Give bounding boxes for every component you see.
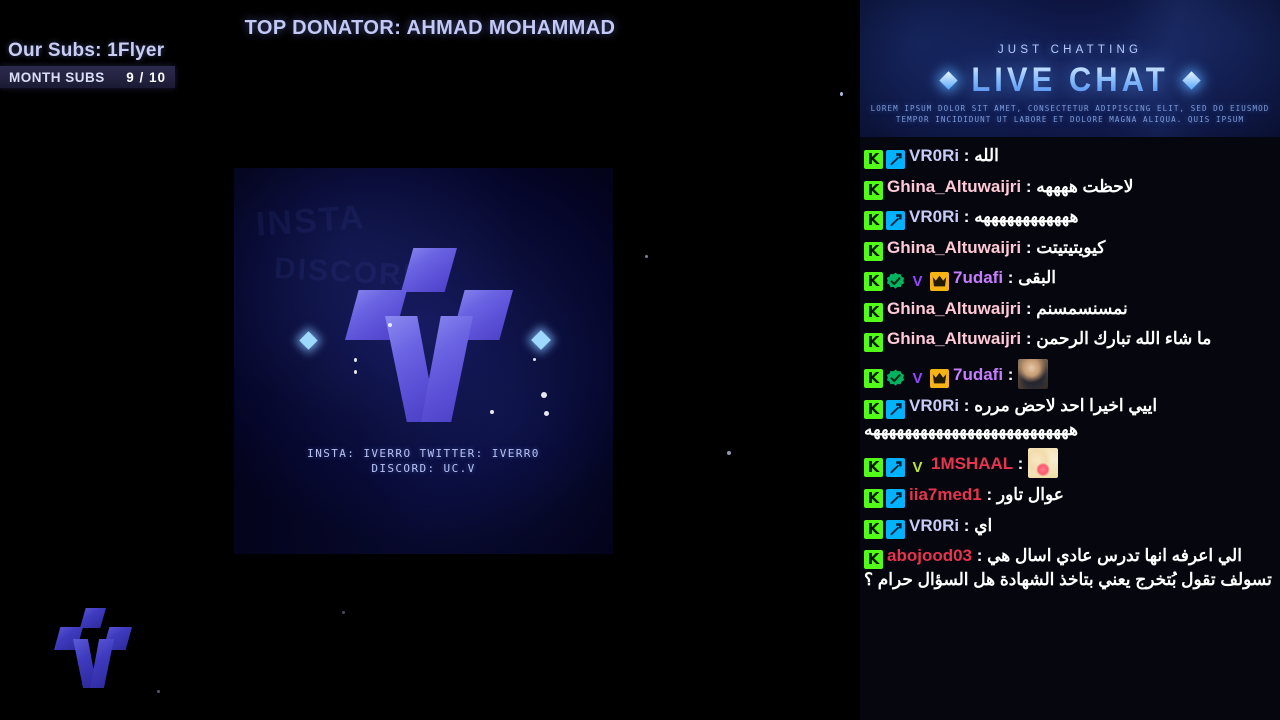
chat-badges: K xyxy=(864,333,883,352)
chat-message-text: ما شاء الله تبارك الرحمن xyxy=(1036,329,1211,348)
chat-colon-separator: : xyxy=(959,146,974,165)
particle-dot xyxy=(388,323,392,327)
chat-banner-title-row: LIVE CHAT xyxy=(860,62,1280,98)
crown-badge-icon[interactable] xyxy=(930,369,949,388)
chat-message-list[interactable]: KVR0Ri : اللهKGhina_Altuwaijri : لاحظت ه… xyxy=(860,137,1280,720)
chat-badges: K xyxy=(864,520,905,539)
chat-message[interactable]: KV7udafi : البقى xyxy=(864,267,1272,291)
chat-username[interactable]: 1MSHAAL xyxy=(931,454,1013,473)
moderator-badge-icon[interactable] xyxy=(886,211,905,230)
chat-message[interactable]: KVR0Ri : اي xyxy=(864,515,1272,539)
kick-badge-icon[interactable]: K xyxy=(864,333,883,352)
chat-badges: K xyxy=(864,242,883,261)
chat-message-text: البقى xyxy=(1018,268,1056,287)
chat-message[interactable]: KGhina_Altuwaijri : لاحظت ههههه xyxy=(864,176,1272,200)
chat-banner-subtitle-line-2: TEMPOR INCIDIDUNT UT LABORE ET DOLORE MA… xyxy=(860,114,1280,125)
chat-message-text: اييي اخيرا احد لاحض مرره ههههههههههههههه… xyxy=(864,396,1157,439)
chat-username[interactable]: Ghina_Altuwaijri xyxy=(887,329,1021,348)
kick-badge-icon[interactable]: K xyxy=(864,458,883,477)
album-social-line-1: INSTA: IVERRO TWITTER: IVERR0 xyxy=(234,446,613,461)
chat-banner: JUST CHATTING LIVE CHAT LOREM IPSUM DOLO… xyxy=(860,0,1280,137)
chat-message-text: عوال تاور xyxy=(997,485,1064,504)
chat-username[interactable]: 7udafi xyxy=(953,268,1003,287)
diamond-icon-left xyxy=(940,71,958,89)
our-subs-label: Our Subs: 1Flyer xyxy=(8,40,164,62)
moderator-badge-icon[interactable] xyxy=(886,489,905,508)
particle-dot xyxy=(544,411,549,416)
chat-colon-separator: : xyxy=(1003,268,1018,287)
chat-colon-separator: : xyxy=(1021,177,1036,196)
chat-badges: K xyxy=(864,150,905,169)
chat-message[interactable]: KVR0Ri : اييي اخيرا احد لاحض مرره هههههه… xyxy=(864,395,1272,441)
chat-badges: K xyxy=(864,400,905,419)
chat-emote-icon[interactable] xyxy=(1018,359,1048,389)
kick-badge-icon[interactable]: K xyxy=(864,303,883,322)
chat-emote-icon[interactable] xyxy=(1028,448,1058,478)
album-social-handles: INSTA: IVERRO TWITTER: IVERR0 DISCORD: U… xyxy=(234,446,613,476)
kick-badge-icon[interactable]: K xyxy=(864,150,883,169)
stream-video-area: TOP DONATOR: AHMAD MOHAMMAD Our Subs: 1F… xyxy=(0,0,860,720)
chat-message-text: نمسنسمسنم xyxy=(1036,299,1127,318)
particle-dot xyxy=(541,392,547,398)
vip-badge-icon[interactable]: V xyxy=(908,458,927,477)
live-chat-panel[interactable]: JUST CHATTING LIVE CHAT LOREM IPSUM DOLO… xyxy=(860,0,1280,720)
month-subs-progress-bar: MONTH SUBS 9 / 10 xyxy=(0,66,175,88)
chat-badges: K xyxy=(864,211,905,230)
chat-colon-separator: : xyxy=(959,516,974,535)
kick-badge-icon[interactable]: K xyxy=(864,272,883,291)
kick-badge-icon[interactable]: K xyxy=(864,211,883,230)
chat-badges: K xyxy=(864,303,883,322)
particle-dot xyxy=(354,358,357,362)
corner-brand-logo xyxy=(52,608,134,690)
chat-banner-subtitle: LOREM IPSUM DOLOR SIT AMET, CONSECTETUR … xyxy=(860,103,1280,125)
album-social-line-2: DISCORD: UC.V xyxy=(234,461,613,476)
chat-badges: KV xyxy=(864,458,927,477)
chat-badges: KV xyxy=(864,272,949,291)
chat-message-text: الله xyxy=(974,146,999,165)
particle-dot xyxy=(645,255,648,258)
kick-badge-icon[interactable]: K xyxy=(864,520,883,539)
moderator-badge-icon[interactable] xyxy=(886,400,905,419)
chat-colon-separator: : xyxy=(1013,454,1028,473)
chat-username[interactable]: VR0Ri xyxy=(909,207,959,226)
moderator-badge-icon[interactable] xyxy=(886,520,905,539)
kick-badge-icon[interactable]: K xyxy=(864,181,883,200)
chat-message[interactable]: KV7udafi : xyxy=(864,359,1272,389)
particle-dot xyxy=(490,410,494,414)
chat-username[interactable]: Ghina_Altuwaijri xyxy=(887,299,1021,318)
vip-badge-icon[interactable]: V xyxy=(908,272,927,291)
moderator-badge-icon[interactable] xyxy=(886,458,905,477)
chat-colon-separator: : xyxy=(972,546,987,565)
chat-message[interactable]: KGhina_Altuwaijri : نمسنسمسنم xyxy=(864,298,1272,322)
kick-badge-icon[interactable]: K xyxy=(864,489,883,508)
chat-username[interactable]: VR0Ri xyxy=(909,146,959,165)
brand-v-logo xyxy=(339,248,519,428)
crown-badge-icon[interactable] xyxy=(930,272,949,291)
chat-banner-kicker: JUST CHATTING xyxy=(860,44,1280,56)
particle-dot xyxy=(727,451,731,455)
chat-colon-separator: : xyxy=(1021,299,1036,318)
kick-badge-icon[interactable]: K xyxy=(864,242,883,261)
chat-banner-subtitle-line-1: LOREM IPSUM DOLOR SIT AMET, CONSECTETUR … xyxy=(860,103,1280,114)
moderator-badge-icon[interactable] xyxy=(886,150,905,169)
chat-badges: K xyxy=(864,181,883,200)
chat-message[interactable]: KVR0Ri : ههههههههههههه xyxy=(864,206,1272,230)
chat-username[interactable]: Ghina_Altuwaijri xyxy=(887,177,1021,196)
chat-message[interactable]: Kabojood03 : الي اعرفه انها تدرس عادي اس… xyxy=(864,545,1272,591)
verified-badge-icon[interactable] xyxy=(886,369,905,388)
chat-message-text: اي xyxy=(974,516,992,535)
top-donator-label: TOP DONATOR: AHMAD MOHAMMAD xyxy=(0,17,860,40)
particle-dot xyxy=(157,690,160,693)
kick-badge-icon[interactable]: K xyxy=(864,550,883,569)
chat-badges: K xyxy=(864,550,883,569)
particle-dot xyxy=(342,611,345,614)
chat-username[interactable]: VR0Ri xyxy=(909,396,959,415)
kick-badge-icon[interactable]: K xyxy=(864,369,883,388)
chat-message[interactable]: KVR0Ri : الله xyxy=(864,145,1272,169)
chat-banner-title: LIVE CHAT xyxy=(971,60,1168,100)
chat-message-text: ههههههههههههه xyxy=(974,207,1078,226)
chat-username[interactable]: 7udafi xyxy=(953,365,1003,384)
chat-colon-separator: : xyxy=(959,396,974,415)
chat-username[interactable]: VR0Ri xyxy=(909,516,959,535)
chat-colon-separator: : xyxy=(1021,238,1036,257)
album-art-card: INSTA DISCORD INSTA: IVERRO TWITTER: IVE… xyxy=(234,168,613,554)
chat-username[interactable]: abojood03 xyxy=(887,546,972,565)
chat-message[interactable]: Kiia7med1 : عوال تاور xyxy=(864,484,1272,508)
chat-colon-separator: : xyxy=(1021,329,1036,348)
particle-dot xyxy=(354,370,357,374)
chat-username[interactable]: iia7med1 xyxy=(909,485,982,504)
stream-overlay-screen: TOP DONATOR: AHMAD MOHAMMAD Our Subs: 1F… xyxy=(0,0,1280,720)
chat-badges: K xyxy=(864,489,905,508)
chat-message[interactable]: KGhina_Altuwaijri : ما شاء الله تبارك ال… xyxy=(864,328,1272,352)
chat-message[interactable]: KGhina_Altuwaijri : كيويتيتيتت xyxy=(864,237,1272,261)
kick-badge-icon[interactable]: K xyxy=(864,400,883,419)
chat-colon-separator: : xyxy=(1003,365,1018,384)
vip-badge-icon[interactable]: V xyxy=(908,369,927,388)
chat-colon-separator: : xyxy=(982,485,997,504)
album-ghost-text-1: INSTA xyxy=(255,198,367,245)
chat-message-text: كيويتيتيتت xyxy=(1036,238,1105,257)
chat-username[interactable]: Ghina_Altuwaijri xyxy=(887,238,1021,257)
particle-dot xyxy=(533,358,536,361)
particle-dot xyxy=(840,92,843,96)
chat-message-text: لاحظت ههههه xyxy=(1036,177,1133,196)
chat-colon-separator: : xyxy=(959,207,974,226)
sparkle-right xyxy=(531,330,551,350)
chat-badges: KV xyxy=(864,369,949,388)
month-subs-count: 9 / 10 xyxy=(126,70,166,85)
verified-badge-icon[interactable] xyxy=(886,272,905,291)
month-subs-label: MONTH SUBS xyxy=(9,70,105,85)
chat-message[interactable]: KV1MSHAAL : xyxy=(864,448,1272,478)
sparkle-left xyxy=(299,331,317,349)
diamond-icon-right xyxy=(1182,71,1200,89)
